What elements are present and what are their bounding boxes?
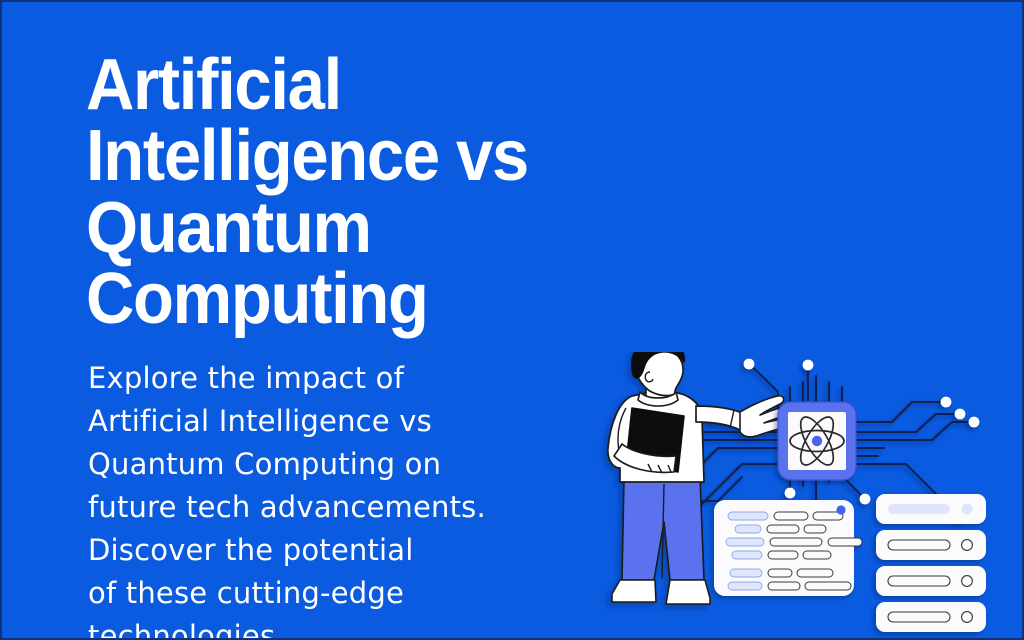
server-unit [876, 530, 986, 560]
quantum-atom-chip [778, 402, 856, 480]
shoe-left [612, 580, 656, 602]
circuit-node [744, 359, 755, 370]
server-unit [876, 566, 986, 596]
circuit-node [803, 360, 814, 371]
circuit-node [785, 488, 796, 499]
circuit-node [941, 397, 952, 408]
circuit-node [955, 409, 966, 420]
code-row [728, 512, 843, 520]
server-unit [876, 602, 986, 632]
server-stack [876, 494, 986, 632]
text-column: Artificial Intelligence vs Quantum Compu… [86, 50, 646, 640]
shoe-right [666, 580, 710, 604]
code-row [730, 569, 833, 577]
code-snippet-panel [714, 500, 862, 596]
circuit-node [860, 494, 871, 505]
code-panel-marker [836, 505, 845, 514]
server-unit [876, 494, 986, 524]
illustration [592, 352, 1024, 640]
poster-canvas: Artificial Intelligence vs Quantum Compu… [0, 0, 1024, 640]
code-row [732, 551, 831, 559]
code-row [728, 582, 851, 590]
code-row [726, 538, 862, 546]
code-row [735, 525, 826, 533]
circuit-node [969, 417, 980, 428]
page-title: Artificial Intelligence vs Quantum Compu… [86, 50, 607, 335]
page-subcopy: Explore the impact of Artificial Intelli… [88, 357, 646, 640]
extended-arm [696, 406, 744, 430]
atom-nucleus [812, 436, 822, 446]
